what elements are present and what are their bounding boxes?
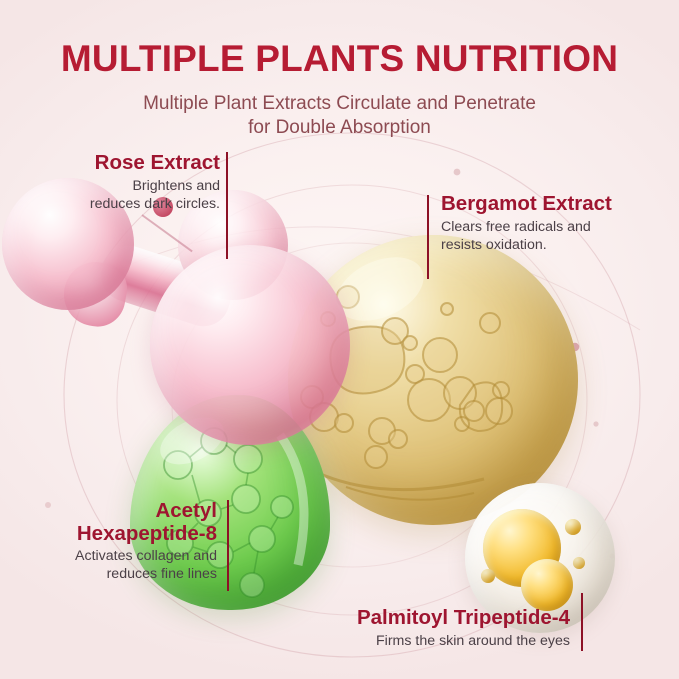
callout-palmitoyl-tripeptide-4-rule bbox=[581, 593, 583, 651]
bergamot-desc-line-1: Clears free radicals and bbox=[441, 218, 671, 236]
rose-desc-line-2: reduces dark circles. bbox=[40, 195, 220, 213]
product-infographic-poster: MULTIPLE PLANTS NUTRITION Multiple Plant… bbox=[0, 0, 679, 679]
bergamot-desc-line-2: resists oxidation. bbox=[441, 236, 671, 254]
page-subtitle: Multiple Plant Extracts Circulate and Pe… bbox=[0, 92, 679, 141]
gold-droplet-xtiny bbox=[481, 569, 495, 583]
callout-palmitoyl-tripeptide-4-heading: Palmitoyl Tripeptide-4 bbox=[280, 607, 570, 630]
gold-droplet-small bbox=[565, 519, 581, 535]
callout-rose-extract-description: Brightens and reduces dark circles. bbox=[40, 177, 220, 213]
callout-bergamot-extract: Bergamot Extract Clears free radicals an… bbox=[441, 193, 671, 254]
callout-bergamot-extract-heading: Bergamot Extract bbox=[441, 193, 671, 216]
callout-bergamot-extract-rule bbox=[427, 195, 429, 279]
callout-acetyl-hexapeptide-8-description: Activates collagen and reduces fine line… bbox=[20, 547, 217, 583]
page-title: MULTIPLE PLANTS NUTRITION bbox=[0, 40, 679, 79]
callout-rose-extract-heading: Rose Extract bbox=[40, 152, 220, 175]
acetyl-desc-line-1: Activates collagen and bbox=[20, 547, 217, 565]
callout-palmitoyl-tripeptide-4: Palmitoyl Tripeptide-4 Firms the skin ar… bbox=[280, 607, 570, 650]
acetyl-desc-line-2: reduces fine lines bbox=[20, 565, 217, 583]
gold-droplet-tiny bbox=[573, 557, 585, 569]
subtitle-line-2: for Double Absorption bbox=[0, 116, 679, 140]
callout-acetyl-hexapeptide-8-heading: Acetyl Hexapeptide-8 bbox=[20, 500, 217, 545]
rose-extract-sphere-main bbox=[150, 245, 350, 445]
callout-bergamot-extract-description: Clears free radicals and resists oxidati… bbox=[441, 218, 671, 254]
rose-desc-line-1: Brightens and bbox=[40, 177, 220, 195]
palmitoyl-desc-line-1: Firms the skin around the eyes bbox=[280, 632, 570, 650]
callout-acetyl-hexapeptide-8: Acetyl Hexapeptide-8 Activates collagen … bbox=[20, 500, 217, 583]
acetyl-heading-line-1: Acetyl bbox=[20, 500, 217, 523]
subtitle-line-1: Multiple Plant Extracts Circulate and Pe… bbox=[0, 92, 679, 116]
callout-rose-extract-rule bbox=[226, 152, 228, 259]
callout-acetyl-hexapeptide-8-rule bbox=[227, 500, 229, 591]
acetyl-heading-line-2: Hexapeptide-8 bbox=[20, 523, 217, 546]
callout-rose-extract: Rose Extract Brightens and reduces dark … bbox=[40, 152, 220, 213]
gold-droplet-medium bbox=[521, 559, 573, 611]
callout-palmitoyl-tripeptide-4-description: Firms the skin around the eyes bbox=[280, 632, 570, 650]
